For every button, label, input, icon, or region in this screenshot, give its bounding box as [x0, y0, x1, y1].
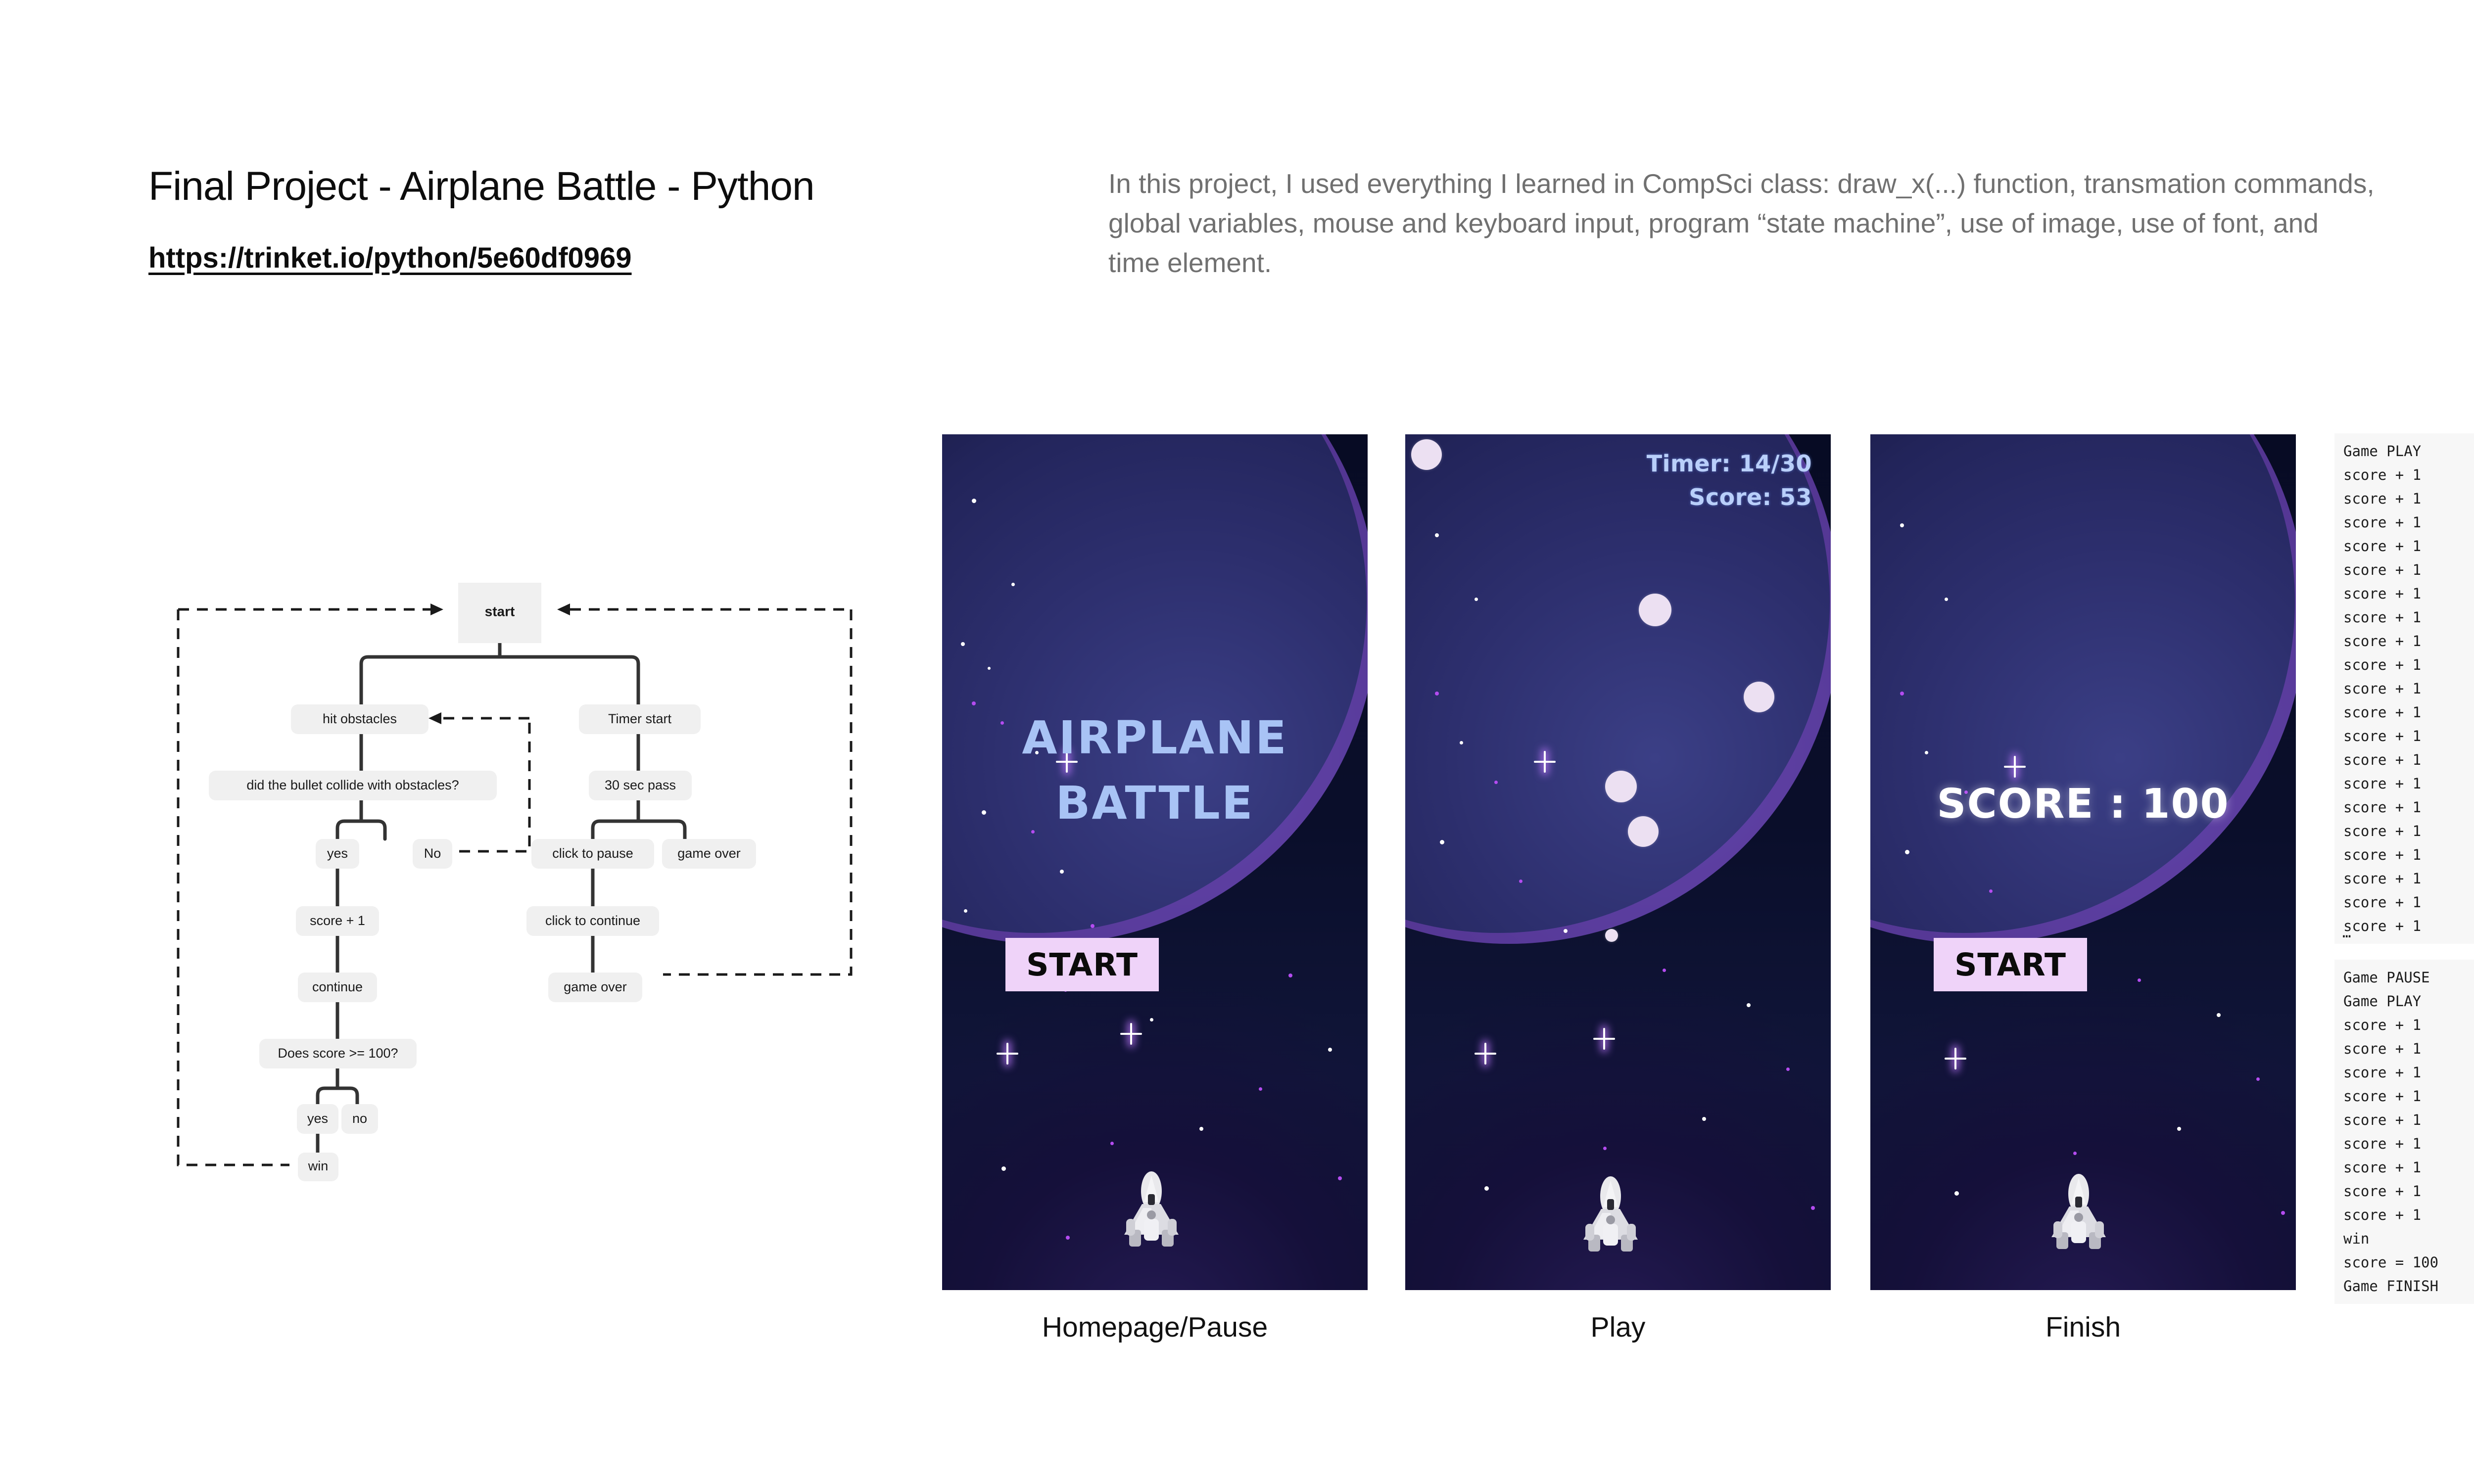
- console-ellipsis: …: [2342, 924, 2352, 941]
- console-line: Game PLAY: [2343, 439, 2474, 463]
- console-line: score + 1: [2343, 843, 2474, 867]
- final-score-display: SCORE : 100: [1870, 781, 2296, 828]
- console-line: score + 1: [2343, 629, 2474, 653]
- spaceship-sprite: [1573, 1176, 1648, 1260]
- flow-node-bullet-question: did the bullet collide with obstacles?: [209, 771, 497, 800]
- flow-node-yes-2: yes: [297, 1104, 338, 1134]
- console-line: score + 1: [2343, 582, 2474, 605]
- console-line: score + 1: [2343, 914, 2474, 938]
- start-button[interactable]: START: [1005, 938, 1159, 991]
- flow-node-click-to-continue: click to continue: [526, 906, 659, 936]
- console-line: Game PLAY: [2343, 989, 2474, 1013]
- console-line: score + 1: [2343, 772, 2474, 795]
- starfield: [942, 434, 1368, 1290]
- game-title-line-1: AIRPLANE: [942, 711, 1368, 764]
- svg-text:did the bullet collide with ob: did the bullet collide with obstacles?: [246, 778, 459, 792]
- flow-node-30-sec-pass: 30 sec pass: [589, 771, 692, 800]
- flow-node-no-1: No: [413, 839, 452, 869]
- console-line: score + 1: [2343, 819, 2474, 843]
- slide-canvas: Final Project - Airplane Battle - Python…: [0, 0, 2474, 1484]
- svg-text:no: no: [352, 1111, 367, 1126]
- console-line: score + 1: [2343, 867, 2474, 890]
- score-display: Score: 53: [1689, 484, 1812, 510]
- console-line: score + 1: [2343, 510, 2474, 534]
- spaceship-sprite: [1114, 1171, 1189, 1255]
- svg-text:Timer start: Timer start: [608, 711, 671, 726]
- console-line: score + 1: [2343, 1203, 2474, 1227]
- flow-node-click-to-pause: click to pause: [531, 839, 654, 869]
- game-title-line-2: BATTLE: [942, 777, 1368, 830]
- svg-text:Does score >= 100?: Does score >= 100?: [278, 1046, 398, 1061]
- console-line: score + 1: [2343, 700, 2474, 724]
- game-screenshot-finish: SCORE : 100 START: [1870, 434, 2296, 1290]
- console-line: score + 1: [2343, 558, 2474, 582]
- console-log-panel-top: Game PLAYscore + 1score + 1score + 1scor…: [2334, 433, 2474, 944]
- console-line: score + 1: [2343, 677, 2474, 700]
- svg-text:continue: continue: [312, 979, 363, 994]
- flow-node-timer-start: Timer start: [579, 704, 701, 734]
- flow-node-game-over-1: game over: [662, 839, 756, 869]
- game-screenshot-homepage: AIRPLANE BATTLE START: [942, 434, 1368, 1290]
- console-line: score + 1: [2343, 1084, 2474, 1108]
- project-link[interactable]: https://trinket.io/python/5e60df0969: [148, 241, 632, 275]
- console-line: score + 1: [2343, 1061, 2474, 1084]
- obstacle-ball: [1411, 439, 1442, 470]
- flow-node-win: win: [298, 1153, 338, 1181]
- project-description: In this project, I used everything I lea…: [1108, 164, 2375, 282]
- game-screenshot-play: Timer: 14/30 Score: 53: [1405, 434, 1831, 1290]
- svg-text:yes: yes: [327, 846, 348, 861]
- console-line: score + 1: [2343, 534, 2474, 558]
- svg-text:game over: game over: [677, 846, 741, 861]
- console-line: score + 1: [2343, 890, 2474, 914]
- caption-play: Play: [1405, 1311, 1831, 1344]
- svg-text:start: start: [485, 603, 515, 619]
- flow-node-score-question: Does score >= 100?: [259, 1039, 417, 1068]
- flow-node-start: start: [458, 583, 541, 643]
- obstacle-ball: [1605, 771, 1637, 802]
- caption-homepage: Homepage/Pause: [942, 1311, 1368, 1344]
- spaceship-sprite: [2042, 1174, 2116, 1258]
- flow-node-continue: continue: [298, 973, 377, 1002]
- console-line: score + 1: [2343, 748, 2474, 772]
- console-line: score + 1: [2343, 1037, 2474, 1061]
- console-line: score + 1: [2343, 724, 2474, 748]
- obstacle-ball: [1605, 929, 1618, 942]
- flow-node-hit-obstacles: hit obstacles: [291, 704, 428, 734]
- console-log-panel-bottom: Game PAUSEGame PLAYscore + 1score + 1sco…: [2334, 960, 2474, 1304]
- flow-node-score-plus-1: score + 1: [296, 906, 379, 936]
- console-line: score = 100: [2343, 1251, 2474, 1274]
- state-machine-flowchart: start hit obstacles Timer start did the …: [163, 574, 866, 1182]
- timer-display: Timer: 14/30: [1647, 450, 1812, 477]
- console-line: win: [2343, 1227, 2474, 1251]
- console-line: score + 1: [2343, 1108, 2474, 1132]
- console-line: score + 1: [2343, 795, 2474, 819]
- flow-node-game-over-2: game over: [548, 973, 642, 1002]
- svg-text:click to continue: click to continue: [545, 913, 640, 928]
- starfield: [1870, 434, 2296, 1290]
- console-line: Game PAUSE: [2343, 966, 2474, 989]
- console-line: score + 1: [2343, 605, 2474, 629]
- console-line: score + 1: [2343, 487, 2474, 510]
- svg-text:game over: game over: [564, 979, 627, 994]
- svg-text:click to pause: click to pause: [552, 846, 633, 861]
- caption-finish: Finish: [1870, 1311, 2296, 1344]
- svg-text:30 sec pass: 30 sec pass: [605, 778, 676, 792]
- start-button[interactable]: START: [1934, 938, 2087, 991]
- svg-text:score + 1: score + 1: [310, 913, 365, 928]
- obstacle-ball: [1628, 816, 1659, 847]
- starfield: [1405, 434, 1831, 1290]
- obstacle-ball: [1639, 594, 1671, 626]
- obstacle-ball: [1744, 682, 1774, 712]
- svg-text:yes: yes: [307, 1111, 328, 1126]
- console-line: score + 1: [2343, 1013, 2474, 1037]
- console-line: Game FINISH: [2343, 1274, 2474, 1298]
- page-title: Final Project - Airplane Battle - Python: [148, 163, 814, 210]
- svg-text:No: No: [424, 846, 441, 861]
- console-line: score + 1: [2343, 1179, 2474, 1203]
- flow-node-no-2: no: [341, 1104, 378, 1134]
- console-line: score + 1: [2343, 653, 2474, 677]
- console-line: score + 1: [2343, 1132, 2474, 1156]
- console-line: score + 1: [2343, 1156, 2474, 1179]
- svg-text:hit obstacles: hit obstacles: [323, 711, 397, 726]
- console-line: score + 1: [2343, 463, 2474, 487]
- svg-text:win: win: [308, 1159, 329, 1173]
- flow-node-yes-1: yes: [316, 839, 359, 869]
